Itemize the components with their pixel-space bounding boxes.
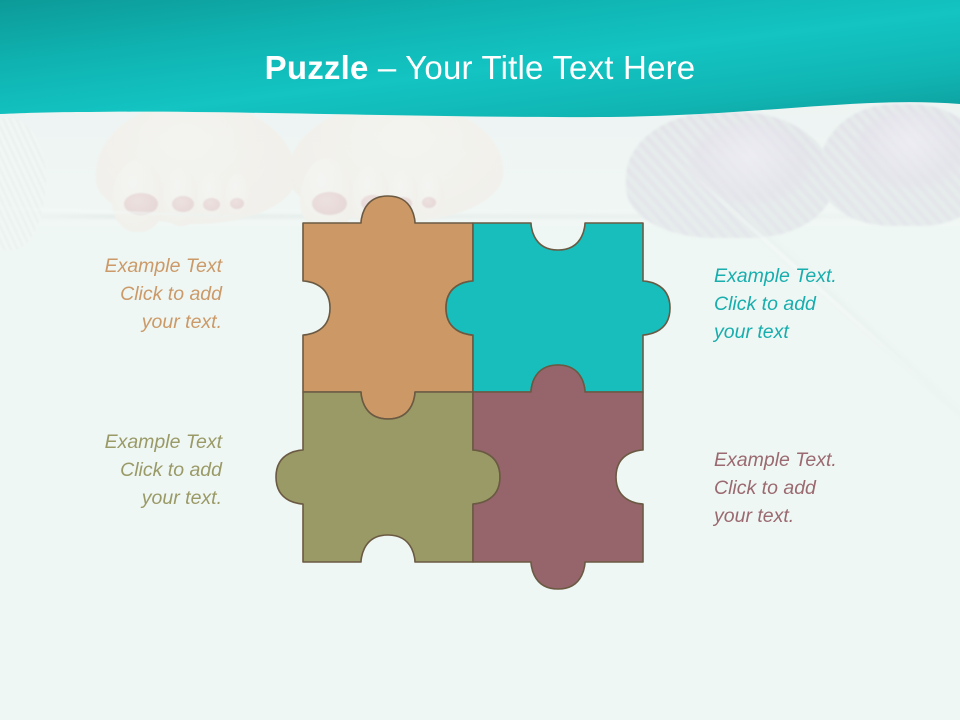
placeholder-line: your text. — [714, 502, 914, 530]
text-placeholder-top-right[interactable]: Example Text. Click to add your text — [714, 262, 914, 346]
placeholder-line: your text. — [40, 484, 222, 512]
text-placeholder-bottom-left[interactable]: Example Text Click to add your text. — [40, 428, 222, 512]
placeholder-line: Click to add — [714, 474, 914, 502]
placeholder-line: Click to add — [40, 280, 222, 308]
placeholder-line: Example Text — [40, 252, 222, 280]
slide-canvas: Puzzle – Your Title Text Here Example Te… — [0, 0, 960, 720]
puzzle-graphic — [0, 0, 960, 720]
placeholder-line: Click to add — [714, 290, 914, 318]
placeholder-line: Example Text. — [714, 446, 914, 474]
placeholder-line: Example Text. — [714, 262, 914, 290]
text-placeholder-top-left[interactable]: Example Text Click to add your text. — [40, 252, 222, 336]
placeholder-line: your text. — [40, 308, 222, 336]
placeholder-line: your text — [714, 318, 914, 346]
placeholder-line: Example Text — [40, 428, 222, 456]
placeholder-line: Click to add — [40, 456, 222, 484]
text-placeholder-bottom-right[interactable]: Example Text. Click to add your text. — [714, 446, 914, 530]
